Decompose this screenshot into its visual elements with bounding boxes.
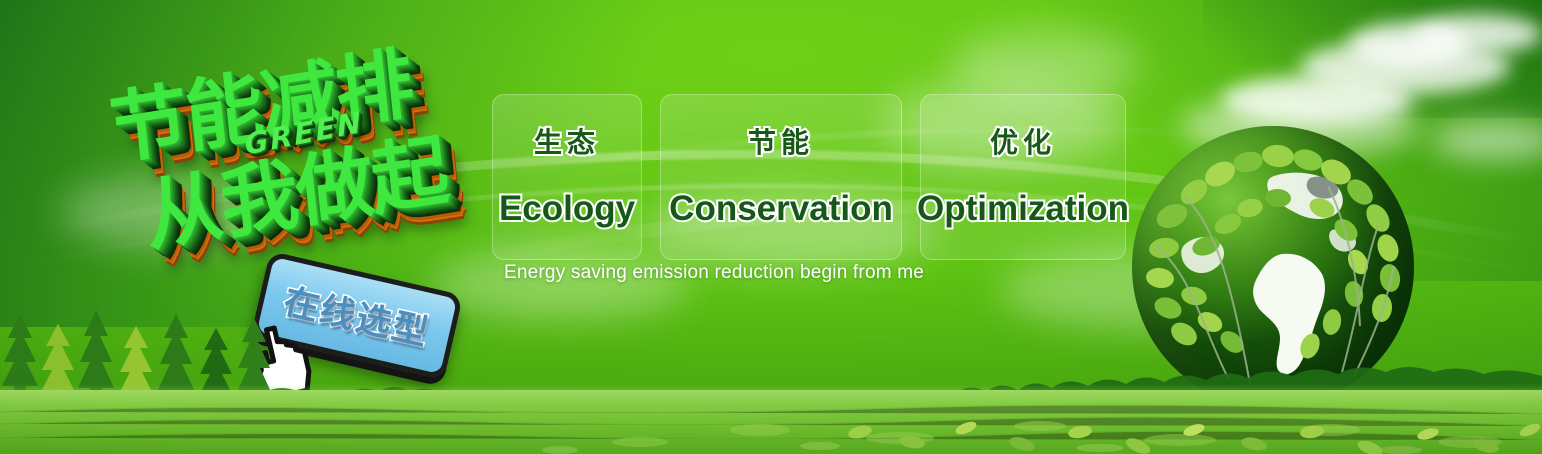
feature-card-ecology[interactable]: 生态 Ecology [492,94,642,260]
scattered-leaves [830,398,1542,454]
feature-card-list: 生态 Ecology 节能 Conservation 优化 Optimizati… [492,94,1126,260]
headline-3d-text: 节能减排 GREEN 从我做起 [85,13,528,296]
feature-card-cn-label: 优化 [990,121,1056,161]
feature-card-en-label: Optimization [917,189,1129,229]
feature-card-cn-label: 节能 [748,121,814,161]
green-energy-banner: 节能减排 GREEN 从我做起 在线选型 生态 Ecology 节能 Conse… [0,0,1542,454]
cloud [1412,14,1542,54]
feature-card-en-label: Conservation [669,189,893,229]
feature-card-optimization[interactable]: 优化 Optimization [920,94,1126,260]
tagline-text: Energy saving emission reduction begin f… [504,262,924,284]
feature-card-cn-label: 生态 [534,121,600,161]
cloud [950,30,1140,100]
feature-card-en-label: Ecology [499,189,635,229]
cloud [430,250,690,320]
feature-card-conservation[interactable]: 节能 Conservation [660,94,902,260]
